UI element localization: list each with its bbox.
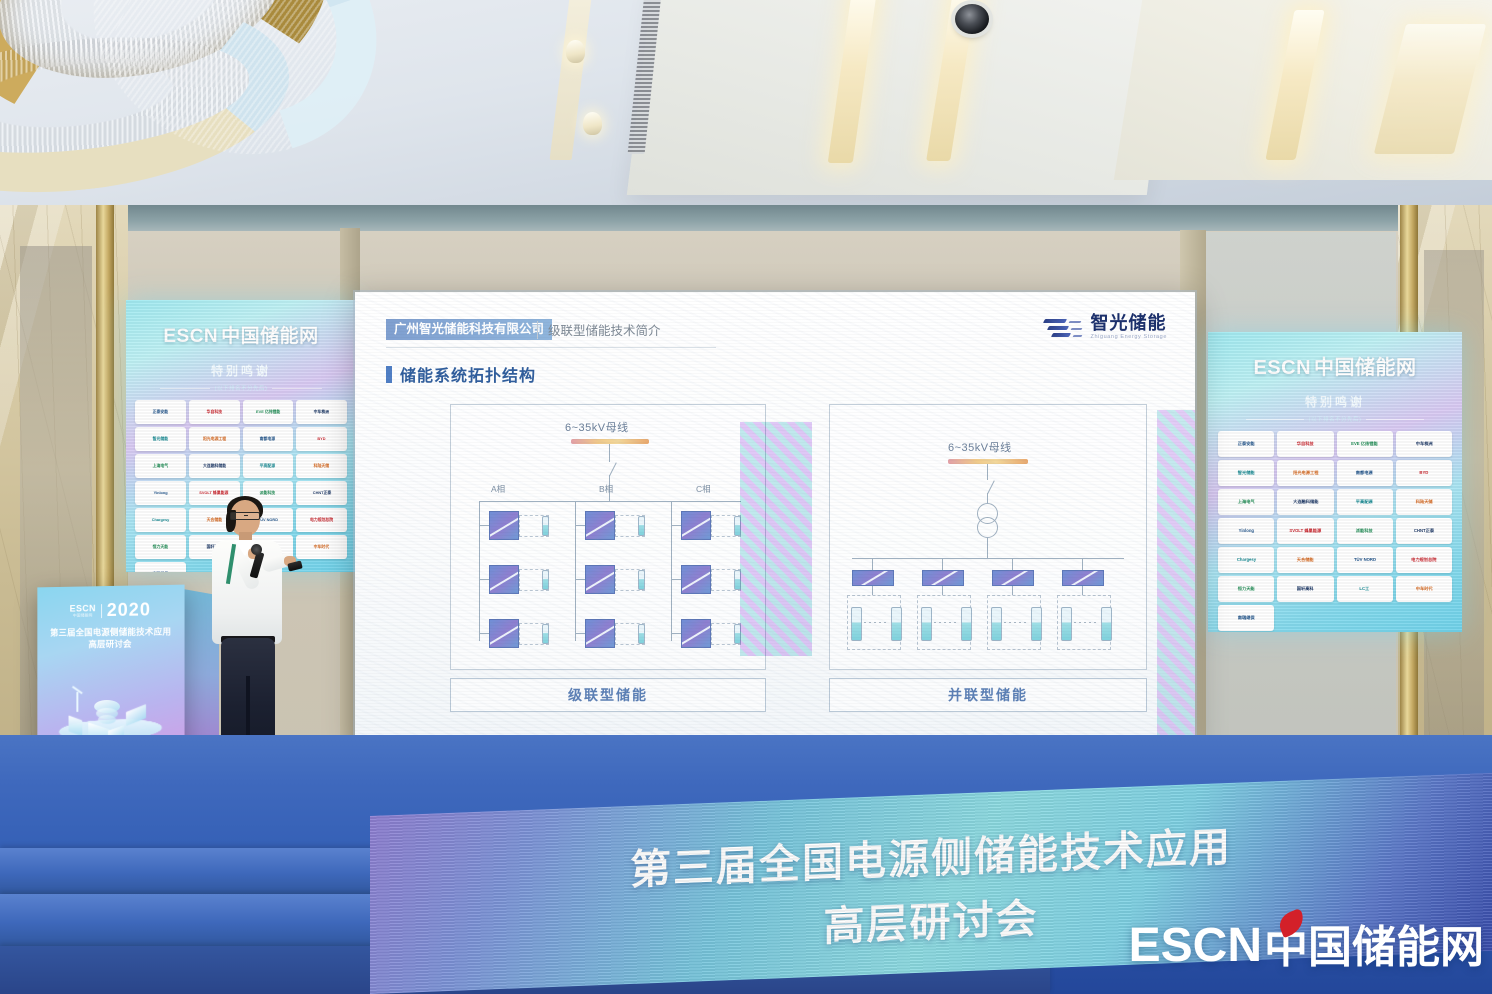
sponsor-logo-label: 上海电气 [1238,500,1255,504]
battery-cell-icon [921,607,932,641]
branch-wire [1012,586,1013,595]
sponsor-logo-cell: 国轩高科 [1277,576,1333,602]
cell-lead-wire [575,579,585,580]
sponsor-logo-cell: 南瑞继保 [1218,605,1274,631]
sponsor-logo-cell: 华自科技 [1277,431,1333,457]
sponsor-logo-label: EVE 亿纬锂能 [1351,442,1378,446]
battery-cell-icon [1101,607,1112,641]
phase-label-b: B相 [599,483,613,495]
sponsor-logo-cell: Yinlong [1218,518,1274,544]
parallel-bus-label: 6~35kV母线 [948,439,1012,455]
microphone-head-icon [251,544,262,555]
ellipsis-connector [1074,622,1098,623]
ellipsis-connector [864,622,888,623]
transformer-icon [977,517,998,538]
sponsor-logo-label: 正泰安能 [153,410,168,414]
sponsor-logo-label: 华自科技 [206,410,221,414]
divider [160,388,210,389]
pcs-converter-icon [585,565,615,594]
pcs-converter-icon [489,565,519,594]
cascaded-busbar-icon [571,439,649,444]
sponsor-logo-cell: 大连融科储能 [1277,489,1333,515]
podium-escn-en: ESCN [70,603,96,613]
watermark-brand-cn: 中国储能网 [1264,926,1484,970]
zhiguang-logo: 智光储能 Zhiguang Energy Storage [1044,314,1167,340]
sponsor-logo-cell: 中车株洲 [296,400,347,424]
sponsor-logo-cell: Chargesy [1218,547,1274,573]
escn-logo-left: ESCN中国储能网 [126,321,356,348]
sponsor-logo-label: 中车株洲 [1415,442,1432,446]
led-interference-band [1157,410,1195,740]
sponsor-logo-label: 智光储能 [1238,471,1255,475]
sponsor-logo-cell: BYD [1396,460,1452,486]
battery-cell-icon [638,570,645,590]
branch-wire [942,558,943,570]
branch-wire [1012,558,1013,570]
sponsor-logo-label: 电力规划总院 [1411,558,1436,562]
battery-cell-icon [638,516,645,536]
thanks-title-right: 特别鸣谢 [1208,393,1462,410]
divider [272,388,322,389]
battery-cell-icon [638,624,645,644]
sponsor-logo-label: Chargesy [1236,558,1255,562]
sponsor-logo-cell: 电力规划总院 [1396,547,1452,573]
battery-cell-icon [1031,607,1042,641]
ceiling-spotlight-icon [566,40,585,63]
sponsor-logo-cell: 中车时代 [1396,576,1452,602]
cell-lead-wire [671,525,681,526]
presentation-clicker-icon [287,560,303,571]
slide-subtitle: 级联型储能技术简介 [548,320,661,339]
podium-title-line1: 第三届全国电源侧储能技术应用 [43,625,178,639]
cascaded-caption: 级联型储能 [450,678,766,712]
sponsor-logo-cell: 科陆天储 [1396,489,1452,515]
parallel-busbar-icon [948,459,1028,464]
zhiguang-name: 智光储能 [1091,314,1167,332]
header-rule [386,347,716,348]
escn-brand-cn: 中国储能网 [221,326,319,347]
sponsor-logo-label: SVOLT 蜂巢能源 [1289,529,1321,533]
pcs-converter-icon [681,565,711,594]
section-accent-bar [386,366,392,383]
sponsor-logo-cell: 阳光电源工程 [189,427,240,451]
breaker-icon [609,462,617,476]
watermark-brand-en: ESCN [1129,922,1262,970]
phase-riser-wire [575,501,576,641]
security-camera-icon [955,4,989,34]
podium-title: 第三届全国电源侧储能技术应用 高层研讨会 [43,625,178,651]
pcs-converter-icon [992,570,1034,586]
zhiguang-latin: Zhiguang Energy Storage [1091,334,1167,340]
sponsor-logo-label: TÜV NORD [1354,558,1376,562]
ribbon-chandelier [0,0,400,180]
sponsor-banner-right: ESCN中国储能网 特别鸣谢 (以下排名不分先后) 正泰安能华自科技EVE 亿纬… [1208,332,1462,632]
pcs-converter-icon [1062,570,1104,586]
pcs-converter-icon [852,570,894,586]
presentation-screen: 广州智光储能科技有限公司 级联型储能技术简介 智光储能 Zhiguang Ene… [355,292,1195,747]
sponsor-logo-label: 上海电气 [153,464,168,468]
front-banner-line1: 第三届全国电源侧储能技术应用 [370,803,1492,906]
ceiling-track-rail [550,0,593,160]
ellipsis-connector [1004,622,1028,623]
escn-watermark: ESCN中国储能网 [1129,922,1484,970]
sponsor-logo-label: 国轩高科 [1297,587,1314,591]
sponsor-logo-cell: 科陆天储 [296,454,347,478]
ceiling [0,0,1492,230]
pcs-converter-icon [489,511,519,540]
battery-cell-icon [991,607,1002,641]
iso-tank-icon [98,715,116,724]
sponsor-logo-label: 中车时代 [1415,587,1432,591]
sponsor-logo-cell: 智光储能 [135,427,186,451]
conference-stage-scene: ESCN中国储能网 特别鸣谢 (以下排名不分先后) 正泰安能华自科技EVE 亿纬… [0,0,1492,994]
iso-turbine-icon [76,692,77,712]
sponsor-logo-cell: Chargesy [135,508,186,532]
cascaded-bus-label: 6~35kV母线 [565,419,629,435]
podium-escn-cn: 中国储能网 [70,613,96,618]
sponsor-logo-label: 大连融科储能 [203,464,226,468]
sponsor-logo-label: SVOLT 蜂巢能源 [200,491,229,495]
podium-year: 2020 [107,599,151,621]
sponsor-logo-label: 中车时代 [314,545,329,549]
sponsor-logo-label: Yinlong [153,491,167,495]
sponsor-logo-cell: SVOLT 蜂巢能源 [1277,518,1333,544]
cell-lead-wire [671,579,681,580]
sponsor-logo-cell: 平高配源 [243,454,294,478]
phase-label-c: C相 [696,483,711,495]
sponsor-logo-cell: 南瑞继保 [135,562,186,572]
cell-lead-wire [479,525,489,526]
phase-riser-wire [671,501,672,641]
sponsor-logo-cell: EVE 亿纬锂能 [1337,431,1393,457]
sponsor-logo-cell: 南都电源 [1337,460,1393,486]
cell-lead-wire [479,633,489,634]
sponsor-logo-label: 派能科技 [260,491,275,495]
sponsor-logo-label: 南都电源 [1356,471,1373,475]
pcs-converter-icon [585,619,615,648]
sponsor-logo-label: 电力规划总院 [310,518,333,522]
thanks-note-right: (以下排名不分先后) [1309,415,1362,423]
cell-lead-wire [671,633,681,634]
sponsor-logo-label: CHNT正泰 [312,491,330,495]
slide-surface: 广州智光储能科技有限公司 级联型储能技术简介 智光储能 Zhiguang Ene… [355,292,1195,747]
sponsor-logo-label: 阳光电源工程 [1293,471,1318,475]
wire [609,444,610,462]
ceiling-spotlight-icon [583,112,602,135]
phase-bus-wire [479,501,741,502]
wire [987,538,988,558]
phase-label-a: A相 [491,483,505,495]
cell-lead-wire [479,579,489,580]
sponsor-logo-label: LC工 [1360,587,1370,591]
cell-lead-wire [575,633,585,634]
sponsor-logo-label: 派能科技 [1356,529,1373,533]
thanks-title-left: 特别鸣谢 [126,362,356,379]
branch-wire [872,586,873,595]
sponsor-logo-label: EVE 亿纬锂能 [256,410,280,414]
wall-top-band [0,205,1492,231]
sponsor-logo-label: 大连融科储能 [1293,500,1318,504]
parallel-caption: 并联型储能 [829,678,1147,712]
battery-cell-icon [891,607,902,641]
sponsor-logo-cell: 上海电气 [135,454,186,478]
battery-cell-icon [542,624,549,644]
sponsor-logo-label: CHNT正泰 [1414,529,1434,533]
escn-brand-en: ESCN [163,326,218,347]
sponsor-logo-label: 南都电源 [260,437,275,441]
podium-header: ESCN 中国储能网 2020 [37,599,184,622]
sponsor-logo-label: 南瑞继保 [1238,616,1255,620]
pcs-converter-icon [681,511,711,540]
ellipsis-connector [934,622,958,623]
sponsor-logo-label: Chargesy [152,518,170,522]
sponsor-logo-label: 天合储能 [1297,558,1314,562]
escn-brand-en: ESCN [1253,357,1311,379]
sponsor-logo-cell: 恒力天能 [135,535,186,559]
sponsor-logo-cell: BYD [296,427,347,451]
sponsor-logo-grid-right: 正泰安能华自科技EVE 亿纬锂能中车株洲智光储能阳光电源工程南都电源BYD上海电… [1218,431,1452,631]
sponsor-logo-label: BYD [1419,471,1428,475]
sponsor-logo-cell: 南都电源 [243,427,294,451]
sponsor-logo-label: 中车株洲 [314,410,329,414]
wire [987,493,988,503]
parallel-bus-wire [852,558,1124,559]
battery-cell-icon [851,607,862,641]
sponsor-logo-cell: 天合储能 [1277,547,1333,573]
sponsor-logo-cell: 阳光电源工程 [1277,460,1333,486]
led-interference-band [740,422,812,656]
cell-lead-wire [575,525,585,526]
escn-brand-cn: 中国储能网 [1314,357,1417,379]
branch-wire [1082,558,1083,570]
escn-logo-right: ESCN中国储能网 [1208,351,1462,380]
sponsor-logo-cell: LC工 [1337,576,1393,602]
sponsor-logo-label: 平高配源 [260,464,275,468]
sponsor-logo-label: 科陆天储 [1415,500,1432,504]
sponsor-logo-cell: 平高配源 [1337,489,1393,515]
divider [1246,419,1304,420]
sponsor-logo-label: 恒力天能 [1238,587,1255,591]
pcs-converter-icon [681,619,711,648]
slide-section-title: 储能系统拓扑结构 [386,362,536,386]
sponsor-logo-cell: TÜV NORD [1337,547,1393,573]
sponsor-logo-label: 正泰安能 [1238,442,1255,446]
sponsor-logo-label: 科陆天储 [314,464,329,468]
pcs-converter-icon [585,511,615,540]
sponsor-logo-cell: 正泰安能 [135,400,186,424]
header-divider [537,321,538,339]
branch-wire [872,558,873,570]
section-title-text: 储能系统拓扑结构 [400,362,536,386]
sponsor-logo-label: BYD [318,437,326,441]
sponsor-logo-label: 智光储能 [153,437,168,441]
cascaded-topology-box: 6~35kV母线 A相 B相 C相 [450,404,766,670]
thanks-note-left: (以下排名不分先后) [215,384,268,392]
sponsor-logo-cell: 恒力天能 [1218,576,1274,602]
sponsor-logo-cell: CHNT正泰 [1396,518,1452,544]
sponsor-logo-label: 阳光电源工程 [203,437,226,441]
divider [1366,419,1424,420]
battery-cell-icon [961,607,972,641]
sponsor-logo-cell: 华自科技 [189,400,240,424]
branch-wire [1082,586,1083,595]
pcs-converter-icon [489,619,519,648]
sponsor-logo-cell: 正泰安能 [1218,431,1274,457]
breaker-icon [987,480,995,494]
battery-cell-icon [542,570,549,590]
sponsor-logo-label: 恒力天能 [153,545,168,549]
sponsor-logo-cell: 智光储能 [1218,460,1274,486]
ceiling-panel-center [627,0,1173,195]
podium-title-line2: 高层研讨会 [43,638,178,651]
phase-riser-wire [479,501,480,641]
speaker-shirt [212,540,282,644]
divider [101,604,102,618]
zhiguang-logo-icon [1044,314,1084,340]
wire [987,464,988,480]
slide-company-tag: 广州智光储能科技有限公司 [386,319,552,340]
sponsor-logo-label: 平高配源 [1356,500,1373,504]
sponsor-logo-label: 华自科技 [1297,442,1314,446]
sponsor-logo-cell: EVE 亿纬锂能 [243,400,294,424]
branch-wire [942,586,943,595]
sponsor-logo-label: Yinlong [1238,529,1253,533]
sponsor-logo-cell: 派能科技 [1337,518,1393,544]
parallel-topology-box: 6~35kV母线 [829,404,1147,670]
sponsor-logo-cell: 上海电气 [1218,489,1274,515]
sponsor-logo-cell: 中车株洲 [1396,431,1452,457]
eyeglasses-icon [230,512,260,520]
sponsor-logo-cell: 大连融科储能 [189,454,240,478]
pcs-converter-icon [922,570,964,586]
battery-cell-icon [1061,607,1072,641]
battery-cell-icon [542,516,549,536]
sponsor-logo-cell: Yinlong [135,481,186,505]
